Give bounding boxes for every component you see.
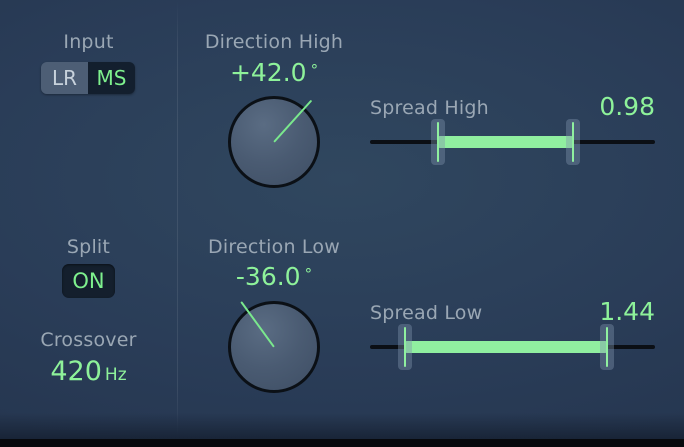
input-mode-ms-button[interactable]: MS — [88, 62, 135, 94]
spread-high-handle-right[interactable] — [566, 119, 580, 165]
crossover-value-number: 420 — [50, 356, 102, 387]
direction-high-unit-degree: ° — [311, 61, 319, 79]
crossover-value-unit: Hz — [105, 365, 127, 385]
direction-high-value-number: +42.0 — [230, 58, 307, 87]
spread-high-handle-left[interactable] — [431, 119, 445, 165]
input-mode-lr-button[interactable]: LR — [41, 62, 88, 94]
direction-high-knob-pointer — [273, 100, 312, 143]
spread-high-label: Spread High — [370, 97, 489, 119]
direction-low-unit-degree: ° — [305, 265, 313, 283]
direction-high-label: Direction High — [188, 31, 360, 53]
direction-low-value-number: -36.0 — [236, 262, 301, 291]
spread-high-value[interactable]: 0.98 — [500, 92, 655, 121]
spread-high-slider-fill — [438, 136, 573, 148]
direction-high-value[interactable]: +42.0° — [188, 58, 360, 87]
section-divider — [177, 0, 178, 439]
spread-low-slider[interactable] — [370, 324, 655, 370]
crossover-value[interactable]: 420Hz — [0, 356, 177, 387]
direction-low-value[interactable]: -36.0° — [188, 262, 360, 291]
spread-low-handle-right[interactable] — [600, 324, 614, 370]
direction-low-knob-pointer — [240, 301, 275, 347]
split-on-button[interactable]: ON — [62, 264, 115, 298]
crossover-label: Crossover — [0, 329, 177, 351]
panel-floor-shade — [0, 413, 684, 439]
spread-low-slider-fill — [405, 341, 607, 353]
split-label: Split — [0, 236, 177, 258]
plugin-window: Input LR MS Split ON Crossover 420Hz Dir… — [0, 0, 684, 447]
direction-high-knob[interactable] — [228, 96, 320, 188]
spread-high-slider[interactable] — [370, 119, 655, 165]
direction-low-knob[interactable] — [228, 301, 320, 393]
direction-low-label: Direction Low — [188, 236, 360, 258]
window-bottom-strip — [0, 439, 684, 447]
spread-low-value[interactable]: 1.44 — [500, 297, 655, 326]
input-mode-segmented-control[interactable]: LR MS — [41, 62, 135, 94]
spread-low-handle-left[interactable] — [398, 324, 412, 370]
input-label: Input — [0, 31, 177, 53]
spread-low-label: Spread Low — [370, 302, 482, 324]
